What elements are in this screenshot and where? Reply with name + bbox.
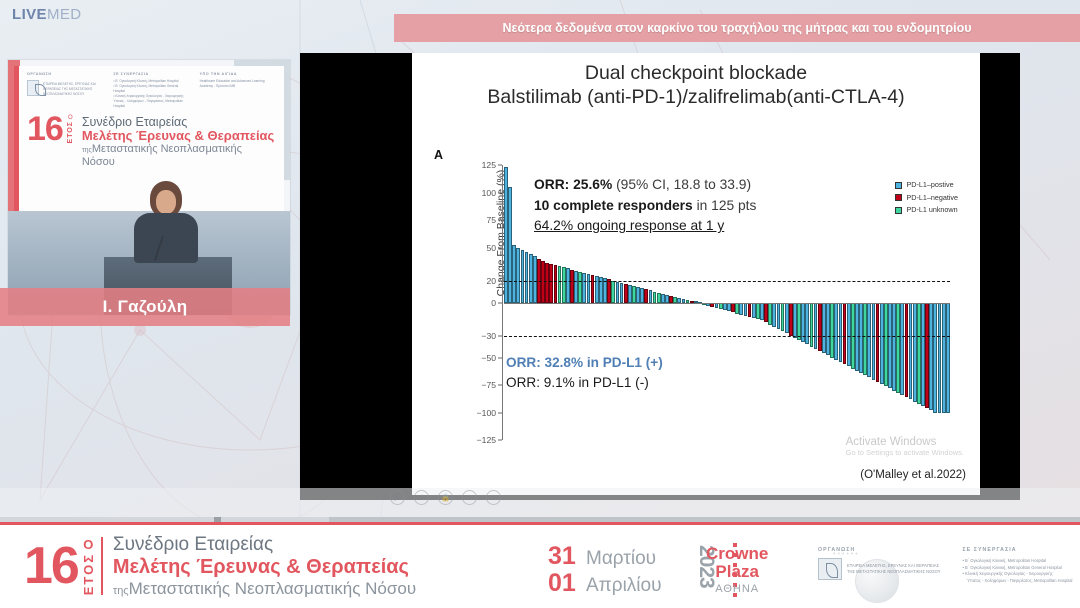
footer-organizations: ΟΡΓΑΝΩΣΗ ΕΤΑΙΡΕΙΑ ΜΕΛΕΤΗΣ, ΕΡΕΥΝΑΣ ΚΑΙ Θ… [818,547,1072,585]
backdrop-org-name: ΕΤΑΙΡΕΙΑ ΜΕΛΕΤΗΣ, ΕΡΕΥΝΑΣ ΚΑΙ ΘΕΡΑΠΕΙΑΣ … [43,82,103,97]
orr-ci: (95% CI, 18.8 to 33.9) [616,177,751,192]
footer-date2-number: 01 [548,570,586,597]
legend-label: PD-L1–postive [906,179,953,192]
conference-footer-banner: 16 Ο ΕΤΟΣ Συνέδριο Εταιρείας Μελέτης Έρε… [0,522,1080,608]
orr-line2: 10 complete responders in 125 pts [534,196,756,217]
zero-baseline [504,303,950,304]
backdrop-org-logo-icon [27,80,39,96]
y-axis-tick-label: 100 [482,188,496,198]
footer-venue: Crowne Plaza ΑΘΗΝΑ [706,545,768,595]
footer-date1-number: 31 [548,543,586,570]
slide-title-line1: Dual checkpoint blockade [412,61,980,85]
legend-item: PD-L1–negative [895,192,958,205]
footer-coop-line3: • Κλινική Χειρουργικής Ογκολογίας - Χειρ… [962,571,1072,578]
speaker-video-panel[interactable]: ΟΡΓΑΝΩΣΗ ΕΤΑΙΡΕΙΑ ΜΕΛΕΤΗΣ, ΕΡΕΥΝΑΣ ΚΑΙ Θ… [8,60,290,315]
orr-value: 25.6% [573,177,612,192]
backdrop-coop-column: ΣΕ ΣΥΝΕΡΓΑΣΙΑ • Β΄ Ογκολογική Κλινική, M… [113,72,189,109]
ongoing-response-line: 64.2% ongoing response at 1 y [534,216,756,237]
y-axis-tick-label: 125 [482,160,496,170]
footer-dates: 31 Μαρτίου 01 Απριλίου 2023 [548,543,662,596]
chart-legend: PD-L1–postivePD-L1–negativePD-L1 unknown [895,179,958,217]
y-axis-tick-label: −100 [477,408,496,418]
footer-coop-list: • Β΄ Ογκολογική Κλινική, Metropolitan Ho… [962,558,1072,585]
speaker-figure [134,181,198,261]
backdrop-auspices-heading: ΥΠΟ ΤΗΝ ΑΙΓΙΔΑ [200,72,276,76]
footer-edition-ordinal: Ο [83,538,93,551]
footer-emblem: •••••• [415,537,505,599]
backdrop-line1: Συνέδριο Εταιρείας [82,115,276,129]
footer-venue-line2: Plaza [706,563,768,581]
backdrop-line2: Μελέτης Έρευνας & Θεραπείας [82,129,276,144]
play-icon[interactable]: ▶ [390,490,405,505]
slide-frame: Dual checkpoint blockade Balstilimab (an… [300,53,1020,500]
legend-item: PD-L1–postive [895,179,958,192]
footer-coop-line1: • Β΄ Ογκολογική Κλινική, Metropolitan Ho… [962,558,1072,565]
legend-label: PD-L1 unknown [906,204,957,217]
player-controls[interactable]: ▶ / 🔒 ⌕ ⋯ [390,490,501,505]
footer-org-heading: ΟΡΓΑΝΩΣΗ [818,547,940,553]
speaker-body [134,213,198,263]
orr-pdl1-negative: ORR: 9.1% in PD-L1 (-) [506,373,663,393]
speaker-name-bar: Ι. Γαζούλη [0,288,290,326]
orr-annotation: ORR: 25.6% (95% CI, 18.8 to 33.9) 10 com… [534,175,756,237]
chart-bar [946,303,950,413]
footer-line1: Συνέδριο Εταιρείας [113,534,416,555]
lock-icon[interactable]: 🔒 [438,490,453,505]
complete-responders-rest: in 125 pts [697,198,757,213]
backdrop-org-column: ΟΡΓΑΝΩΣΗ ΕΤΑΙΡΕΙΑ ΜΕΛΕΤΗΣ, ΕΡΕΥΝΑΣ ΚΑΙ Θ… [27,72,103,109]
footer-org-name-line2: ΤΗΣ ΜΕΤΑΣΤΑΤΙΚΗΣ ΝΕΟΠΛΑΣΜΑΤΙΚΗΣ ΝΟΣΟΥ [847,569,940,575]
progress-bar[interactable] [0,517,1080,522]
orr-label: ORR: [534,177,569,192]
livemed-logo: LIVEMED [12,6,82,23]
footer-date-row-1: 31 Μαρτίου [548,543,662,570]
footer-coop-line2: • Β΄ Ογκολογική Κλινική, Metropolitan Ge… [962,565,1072,572]
backdrop-coop-list: • Β΄ Ογκολογική Κλινική, Metropolitan Ho… [113,79,189,109]
legend-swatch-icon [895,207,902,214]
footer-etos-label: ΕΤΟΣ [82,553,95,595]
footer-line3-main: Μεταστατικής Νεοπλασματικής Νόσου [129,579,417,598]
video-stage: LIVEMED Νεότερα δεδομένα στον καρκίνο το… [0,0,1080,522]
backdrop-org-heading: ΟΡΓΑΝΩΣΗ [27,72,103,76]
slide-title-line2: Balstilimab (anti-PD-1)/zalifrelimab(ant… [412,85,980,109]
y-axis-tick-label: −75 [481,380,496,390]
footer-org-block: ΟΡΓΑΝΩΣΗ ΕΤΑΙΡΕΙΑ ΜΕΛΕΤΗΣ, ΕΡΕΥΝΑΣ ΚΑΙ Θ… [818,547,940,585]
session-title-bar: Νεότερα δεδομένα στον καρκίνο του τραχήλ… [394,14,1080,42]
footer-date-row-2: 01 Απριλίου [548,570,662,597]
speaker-name-text: Ι. Γαζούλη [103,297,188,317]
backdrop-line3-prefix: της [82,147,92,154]
presentation-slide: Dual checkpoint blockade Balstilimab (an… [412,53,980,495]
y-axis-ticks: 1251007550200−30−50−75−100−125 [452,165,496,440]
logo-live-text: LIVE [12,6,47,23]
watermark-line1: Activate Windows [846,436,964,448]
orr-subgroup-annotation: ORR: 32.8% in PD-L1 (+) ORR: 9.1% in PD-… [506,353,663,394]
speaker-face [156,190,176,214]
y-axis-tick-label: −30 [481,331,496,341]
footer-edition-number: 16 [24,545,78,588]
y-axis-tick-label: −50 [481,353,496,363]
footer-line3-prefix: της [113,585,129,597]
more-icon[interactable]: ⋯ [486,490,501,505]
backdrop-auspices-column: ΥΠΟ ΤΗΝ ΑΙΓΙΔΑ Healthcare Education and … [200,72,276,109]
orr-pdl1-positive: ORR: 32.8% in PD-L1 (+) [506,353,663,373]
video-player-bar[interactable]: ▶ / 🔒 ⌕ ⋯ [0,488,1080,522]
slide-citation: (O'Malley et al.2022) [860,469,966,481]
y-axis-tick-label: −125 [477,435,496,445]
backdrop-edition-number: 16 [27,115,63,144]
backdrop-auspices-text: Healthcare Education and Advanced Learni… [200,79,276,89]
progress-fill [0,517,329,522]
y-axis-tick-label: 75 [486,215,496,225]
footer-coop-heading: ΣΕ ΣΥΝΕΡΓΑΣΙΑ [962,547,1072,553]
y-axis-tick-label: 20 [486,276,496,286]
footer-coop-block: ΣΕ ΣΥΝΕΡΓΑΣΙΑ • Β΄ Ογκολογική Κλινική, M… [962,547,1072,585]
waterfall-chart: Change From Baseline (%) 1251007550200−3… [422,165,970,465]
backdrop-line3: τηςΜεταστατικής Νεοπλασματικής Νόσου [82,143,276,168]
reference-line [504,336,950,337]
panel-letter-a: A [434,148,443,162]
footer-org-name: ΕΤΑΙΡΕΙΑ ΜΕΛΕΤΗΣ, ΕΡΕΥΝΑΣ ΚΑΙ ΘΕΡΑΠΕΙΑΣ … [847,563,940,575]
legend-swatch-icon [895,182,902,189]
y-axis-tick-label: 0 [491,298,496,308]
search-icon[interactable]: ⌕ [462,490,477,505]
footer-branding: 16 Ο ΕΤΟΣ Συνέδριο Εταιρείας Μελέτης Έρε… [0,534,416,598]
windows-activation-watermark: Activate Windows Go to Settings to activ… [846,436,964,457]
slide-title: Dual checkpoint blockade Balstilimab (an… [412,53,980,110]
legend-label: PD-L1–negative [906,192,958,205]
logo-med-text: MED [47,6,82,23]
watermark-line2: Go to Settings to activate Windows. [846,448,964,457]
backdrop-coop-heading: ΣΕ ΣΥΝΕΡΓΑΣΙΑ [113,72,189,76]
backdrop-edition-ordinal: Ο [68,115,73,121]
y-axis-tick-label: 50 [486,243,496,253]
backdrop-line3-main: Μεταστατικής Νεοπλασματικής Νόσου [82,143,242,167]
disable-icon[interactable]: / [414,490,429,505]
footer-venue-city: ΑΘΗΝΑ [706,583,768,595]
backdrop-etos-label: ΕΤΟΣ [67,121,74,143]
footer-line3: τηςΜεταστατικής Νεοπλασματικής Νόσου [113,579,416,599]
footer-org-logo-icon [818,558,842,580]
footer-line2: Μελέτης Έρευνας & Θεραπείας [113,556,416,579]
legend-item: PD-L1 unknown [895,204,958,217]
progress-handle[interactable] [214,517,221,522]
footer-date1-month: Μαρτίου [586,549,656,569]
footer-venue-line1: Crowne [706,545,768,563]
orr-line1: ORR: 25.6% (95% CI, 18.8 to 33.9) [534,175,756,196]
session-title-text: Νεότερα δεδομένα στον καρκίνο του τραχήλ… [502,21,971,35]
legend-swatch-icon [895,194,902,201]
complete-responders-value: 10 complete responders [534,198,693,213]
footer-coop-line4: Ύπατος - Χοληφόρων - Παγκρέατος, Metropo… [962,578,1072,585]
reference-line [504,281,950,282]
footer-date2-month: Απριλίου [586,576,662,596]
